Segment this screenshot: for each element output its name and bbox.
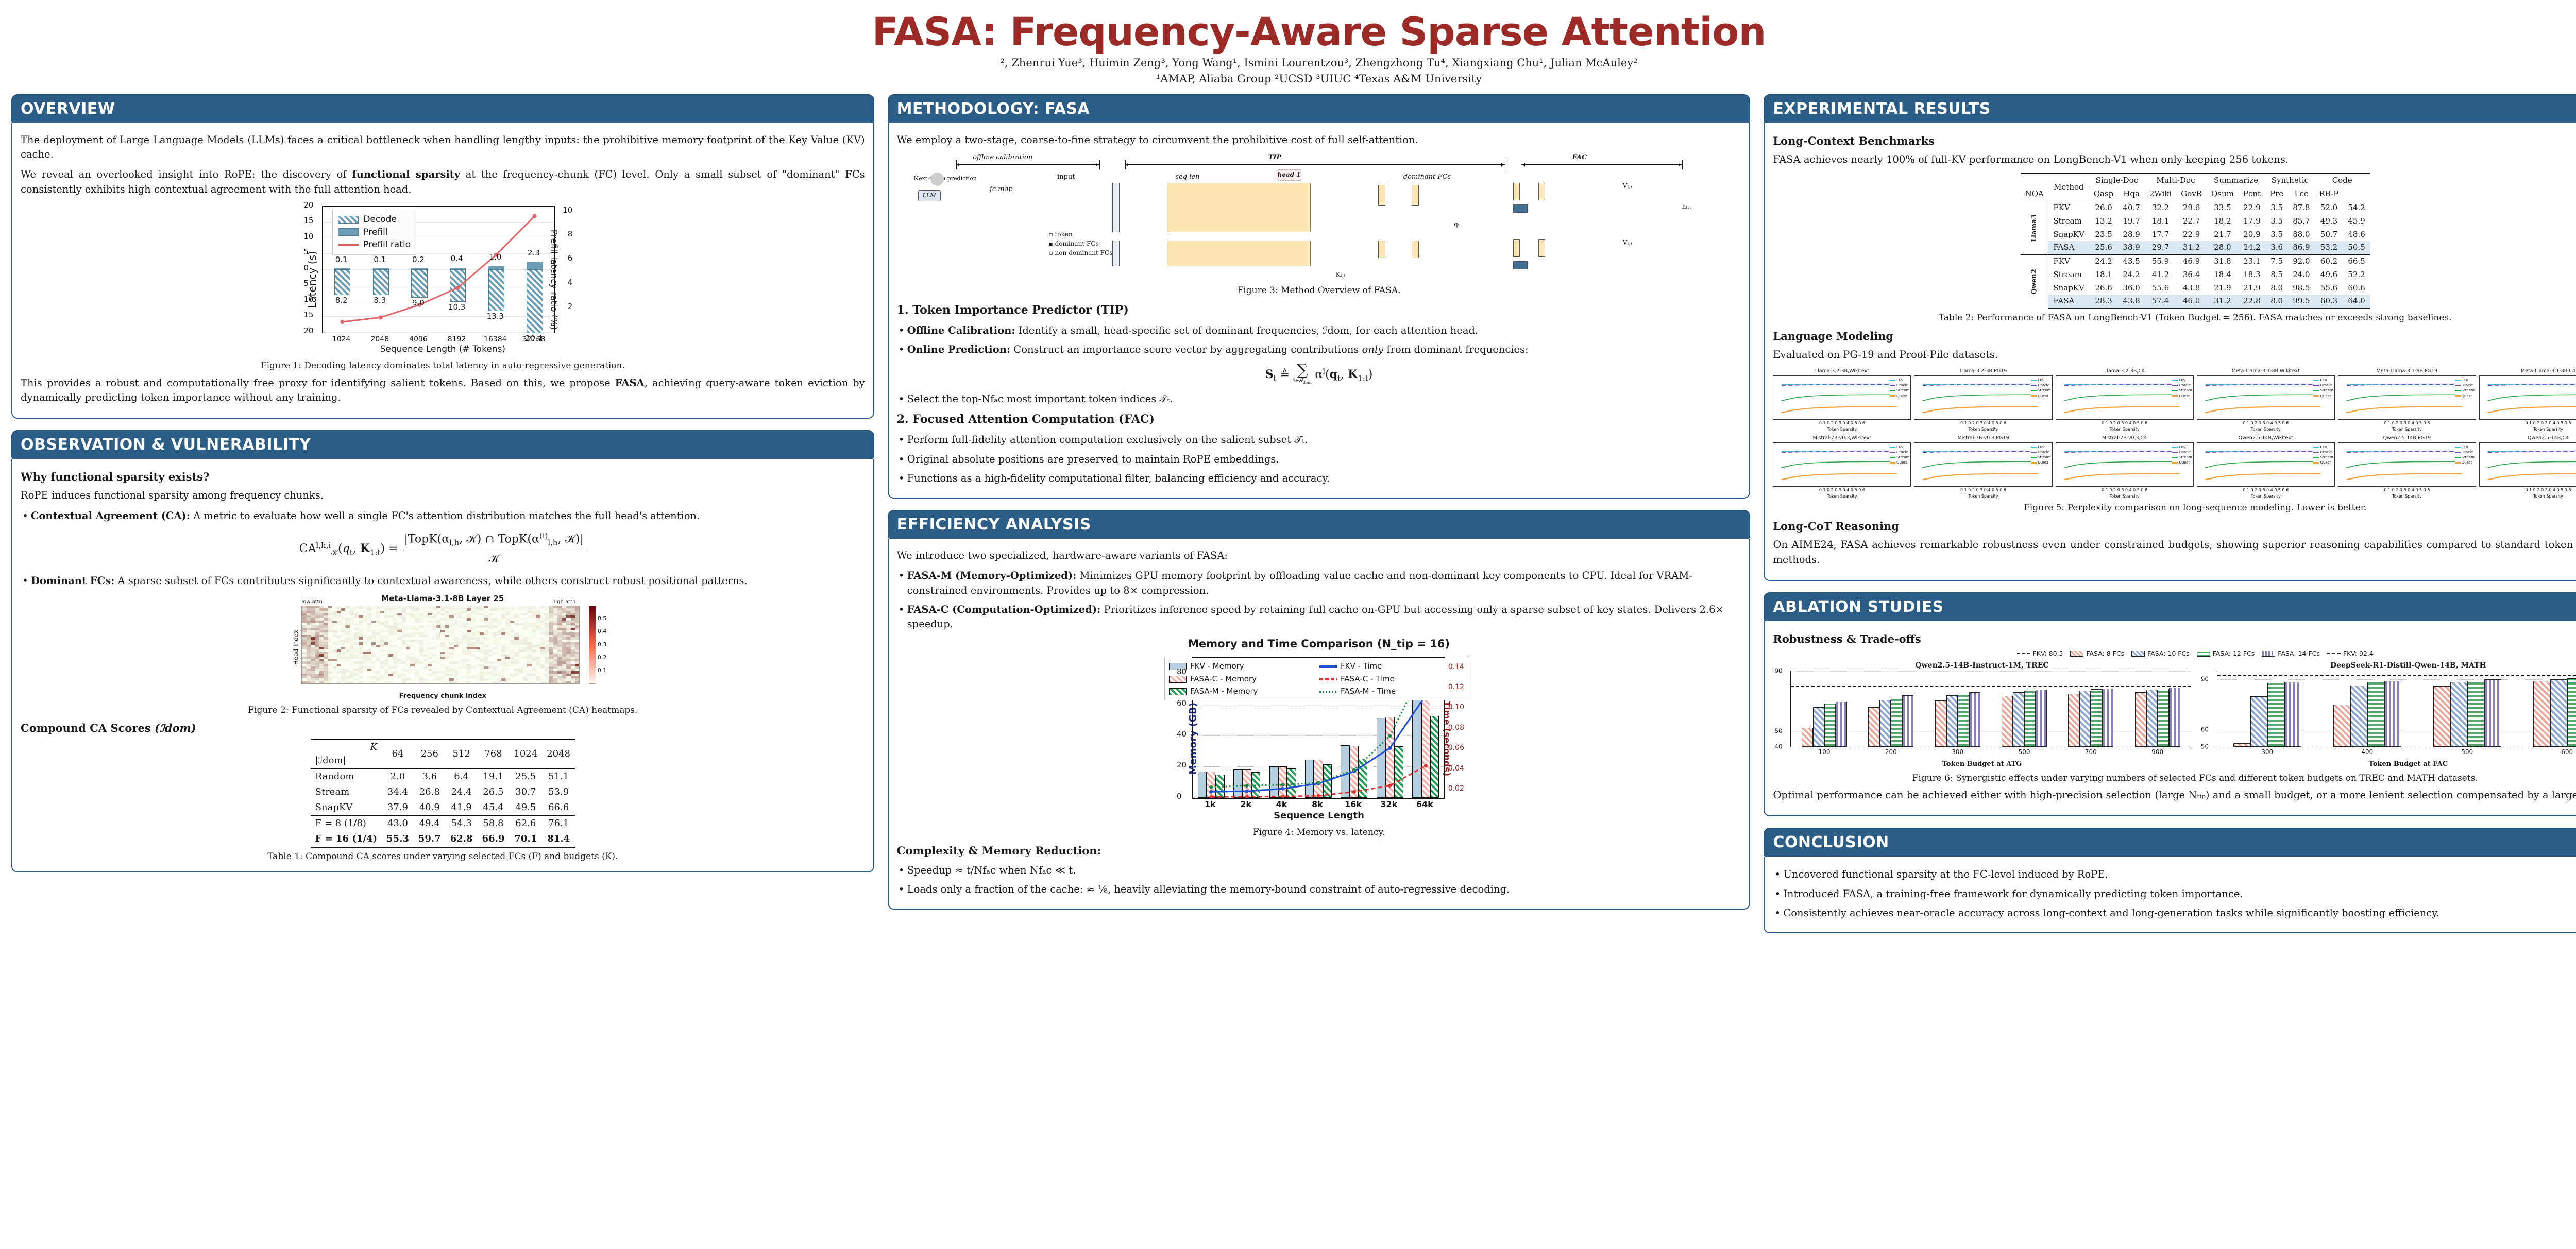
- figure5-legend-item: Stream: [1890, 388, 1909, 393]
- ov-p3-bold: FASA: [615, 377, 645, 389]
- fig1-ytick: 5: [303, 278, 309, 289]
- fig1-ytick: 20: [303, 200, 313, 211]
- figure5-legend: FKVOracleStreamQuest: [2172, 378, 2192, 399]
- fig1-decode-value: 10.3: [448, 302, 465, 313]
- fig6-xtick: 600: [2561, 748, 2573, 757]
- fig1-decode-value: 8.3: [374, 295, 386, 306]
- heatmap-cell: [505, 681, 510, 683]
- figure5-plot: FKVOracleStreamQuest: [1914, 442, 2052, 487]
- fig3-hlt: hₗ,ₜ: [1682, 202, 1691, 211]
- table1-row: F = 16 (1/4)55.359.762.866.970.181.4: [311, 831, 575, 847]
- heatmap-cell: [536, 681, 540, 683]
- heatmap-cell: [514, 681, 518, 683]
- fig4-xtick: 2k: [1240, 798, 1251, 810]
- prefill-swatch: [338, 228, 359, 236]
- efficiency-bullets: FASA-M (Memory-Optimized): Minimizes GPU…: [897, 569, 1741, 631]
- figure5-series-line: [2347, 461, 2462, 468]
- fig3-fac-k-3: [1513, 239, 1520, 257]
- table2-group-header: Code: [2315, 174, 2370, 187]
- fig6-xtick: 900: [2151, 748, 2163, 757]
- heatmap-cell: [350, 681, 354, 683]
- figure5-series-line: [1923, 407, 2038, 413]
- fig4-xtick: 1k: [1205, 798, 1216, 810]
- figure5-xticks: 0.1 0.2 0.3 0.4 0.5 0.6: [1773, 420, 1911, 426]
- fig6-bar: [2024, 691, 2036, 747]
- heatmap-colorbar-tick: 0.3: [598, 641, 607, 649]
- section-ablation: ABLATION STUDIES Robustness & Trade-offs…: [1764, 592, 2576, 817]
- figure5-panel-title: Llama-3.2-3B,C4: [2056, 368, 2194, 375]
- table2-group-header: Synthetic: [2265, 174, 2315, 187]
- table1-row: Stream34.426.824.426.530.753.9: [311, 784, 575, 800]
- fig1-prefill-value: 0.1: [374, 254, 386, 266]
- conclusion-bullet-2: Introduced FASA, a training-free framewo…: [1773, 887, 2576, 901]
- heatmap-cell: [458, 681, 462, 683]
- fig1-decode-value: 9.0: [412, 298, 425, 309]
- methodology-body: We employ a two-stage, coarse-to-fine st…: [888, 123, 1751, 499]
- figure-6-right: DeepSeek-R1-Distill-Qwen-14B, MATH 50609…: [2199, 660, 2576, 769]
- heatmap-cell: [454, 681, 458, 683]
- overview-paragraph-2: We reveal an overlooked insight into RoP…: [21, 167, 865, 197]
- heatmap-cell: [571, 681, 575, 683]
- observation-question: Why functional sparsity exists?: [21, 469, 865, 485]
- fasac-time-swatch: [1319, 678, 1337, 680]
- figure5-legend-item: Oracle: [2313, 383, 2333, 388]
- fig6-gridline: [1791, 671, 2191, 672]
- fig1-ytick-right: 4: [568, 277, 573, 288]
- tip-bullets: Offline Calibration: Identify a small, h…: [897, 323, 1741, 357]
- figure5-series-line: [2206, 395, 2321, 401]
- figure5-legend: FKVOracleStreamQuest: [2031, 378, 2050, 399]
- figure5-series-line: [2206, 385, 2321, 386]
- fig1-ytick: 20: [303, 326, 313, 337]
- figure-1-caption: Figure 1: Decoding latency dominates tot…: [21, 360, 865, 372]
- fig4-xtick: 8k: [1312, 798, 1323, 810]
- tip-section-title: 1. Token Importance Predictor (TIP): [897, 302, 1741, 319]
- figure5-panel-title: Mistral-7B-v0.3,Wikitext: [1773, 435, 1911, 442]
- table2-row: Stream18.124.241.236.418.418.38.524.049.…: [2021, 268, 2370, 282]
- fig3-input-col-bottom: [1112, 241, 1120, 266]
- figure5-panel-title: Qwen2.5-14B,C4: [2479, 435, 2576, 442]
- language-modeling-heading: Language Modeling: [1773, 329, 2576, 344]
- fig1-ytick: 15: [303, 215, 313, 227]
- figure-2-caption: Figure 2: Functional sparsity of FCs rev…: [21, 704, 865, 717]
- fig1-legend-prefill: Prefill: [338, 226, 411, 239]
- figure5-legend: FKVOracleStreamQuest: [1890, 378, 1909, 399]
- fig3-domfc-b: [1412, 185, 1419, 206]
- figure5-legend-item: FKV: [1890, 378, 1909, 383]
- fig3-tick-4: [1505, 160, 1505, 169]
- figure5-panel-title: Llama-3.2-3B,PG19: [1914, 368, 2052, 375]
- table2-col-header: Hqa: [2118, 187, 2144, 201]
- heatmap-cell: [471, 681, 475, 683]
- heatmap-cell: [436, 681, 440, 683]
- figure5-series-line: [1782, 474, 1897, 480]
- table2-col-header: Qasp: [2089, 187, 2119, 201]
- table2-group-header: Single-Doc: [2089, 174, 2145, 187]
- fig6-bar: [2102, 689, 2113, 747]
- fig6-gridline: [1791, 747, 2191, 747]
- experimental-heading: EXPERIMENTAL RESULTS: [1764, 94, 2576, 123]
- heatmap-cell: [363, 681, 367, 683]
- figure5-series-line: [2488, 407, 2576, 413]
- fig6-bar: [2079, 691, 2091, 747]
- fig1-ytick-right: 8: [568, 229, 573, 241]
- heatmap-cell: [523, 681, 527, 683]
- heatmap-cell: [354, 681, 358, 683]
- fig4-ytick: 80: [1177, 666, 1187, 678]
- ov-p2-bold: functional sparsity: [352, 168, 460, 180]
- fig6-bar: [2550, 679, 2567, 747]
- fig6-xtick: 300: [1952, 748, 1963, 757]
- figure5-legend-item: Oracle: [2313, 450, 2333, 455]
- table-1-compound-ca: K |ℐdom|6425651276810242048Random2.03.66…: [311, 739, 575, 848]
- figure5-series-line: [2064, 395, 2180, 401]
- fig1-ytick: 5: [303, 247, 309, 258]
- figure5-panel: Llama-3.2-3B,WikitextFKVOracleStreamQues…: [1773, 368, 1911, 432]
- table2-col-header: RB-P: [2315, 187, 2344, 201]
- figure5-xticks: 0.1 0.2 0.3 0.4 0.5 0.6: [2479, 487, 2576, 493]
- fig3-klt: Kₗ,ₜ: [1336, 270, 1346, 279]
- methodology-heading: METHODOLOGY: FASA: [888, 94, 1751, 123]
- fig6-bar: [2267, 683, 2284, 747]
- heatmap-cell: [532, 681, 536, 683]
- figure5-legend-item: Quest: [2455, 460, 2475, 465]
- heatmap-cell: [428, 681, 432, 683]
- observation-bullets-2: Dominant FCs: A sparse subset of FCs con…: [21, 574, 865, 588]
- figure5-legend-item: Stream: [2455, 388, 2475, 393]
- fig6-bar: [2333, 705, 2350, 747]
- figure5-panel: Qwen2.5-14B,PG19FKVOracleStreamQuest0.1 …: [2338, 435, 2476, 499]
- fig6-bar: [2146, 690, 2158, 746]
- fig4-ytick-right: 0.06: [1448, 743, 1464, 753]
- figure5-xlabel: Token Sparsity: [2479, 426, 2576, 433]
- fig1-ytick-right: 10: [563, 205, 572, 216]
- fig6-xtick: 100: [1819, 748, 1831, 757]
- conclusion-bullets: Uncovered functional sparsity at the FC-…: [1773, 867, 2576, 920]
- figure5-series-line: [2064, 474, 2180, 480]
- heatmap-cell: [540, 681, 545, 683]
- fig1-decode-value: 8.2: [335, 295, 348, 306]
- figure5-panel-title: Meta-Llama-3.1-8B,PG19: [2338, 368, 2476, 375]
- long-cot-text: On AIME24, FASA achieves remarkable robu…: [1773, 538, 2576, 567]
- heatmap-colorbar-tick: 0.2: [598, 654, 607, 662]
- fig1-xtick: 32768: [522, 334, 546, 345]
- fig6-bar: [2169, 688, 2180, 747]
- figure5-plot: FKVOracleStreamQuest: [2479, 442, 2576, 487]
- figure5-xticks: 0.1 0.2 0.3 0.4 0.5 0.6: [2056, 487, 2194, 493]
- fig6-bar: [2484, 679, 2501, 747]
- table2-col-header: Pcnt: [2239, 187, 2265, 201]
- figure5-legend-item: FKV: [2455, 378, 2475, 383]
- heatmap-cell: [388, 681, 393, 683]
- section-experimental: EXPERIMENTAL RESULTS Long-Context Benchm…: [1764, 94, 2576, 581]
- figure5-series-line: [1782, 452, 1897, 453]
- figure-6-legend: FKV: 80.5FASA: 8 FCsFASA: 10 FCsFASA: 12…: [1773, 649, 2576, 658]
- figure5-legend-item: Quest: [2455, 393, 2475, 399]
- figure5-plot: FKVOracleStreamQuest: [2197, 375, 2335, 420]
- authors-line: ², Zhenrui Yue³, Huimin Zeng³, Yong Wang…: [0, 57, 2576, 69]
- table2-method-header: Method: [2048, 174, 2089, 201]
- heatmap-cell: [423, 681, 428, 683]
- figure5-legend: FKVOracleStreamQuest: [2172, 444, 2192, 466]
- bullet-offline-calibration: Offline Calibration: Identify a small, h…: [897, 323, 1741, 338]
- fig4-ytick-right: 0.08: [1448, 723, 1464, 733]
- complexity-heading: Complexity & Memory Reduction:: [897, 843, 1741, 859]
- long-context-heading: Long-Context Benchmarks: [1773, 133, 2576, 149]
- fig3-tick-3: [1125, 160, 1125, 169]
- heatmap-cell: [384, 681, 388, 683]
- fig3-tick-5: [1682, 160, 1683, 169]
- figure5-legend-item: Quest: [2031, 460, 2050, 465]
- section-overview: OVERVIEW The deployment of Large Languag…: [11, 94, 874, 419]
- figure-2-heatmap: Meta-Llama-3.1-8B Layer 25 low attn high…: [278, 593, 607, 702]
- figure5-series-line: [2347, 385, 2462, 386]
- leg-fkv-time: FKV - Time: [1319, 661, 1465, 672]
- figure5-panel-title: Mistral-7B-v0.3,C4: [2056, 435, 2194, 442]
- heatmap-cell: [371, 681, 376, 683]
- figure5-xlabel: Token Sparsity: [2197, 426, 2335, 433]
- heatmap-cell: [510, 681, 514, 683]
- heatmap-cell: [359, 681, 363, 683]
- heatmap-cell: [497, 681, 501, 683]
- fig3-domfc-d: [1412, 241, 1419, 258]
- tip-bullets-2: Select the top-Nfₐc most important token…: [897, 392, 1741, 406]
- figure5-xticks: 0.1 0.2 0.3 0.4 0.5 0.6: [1914, 487, 2052, 493]
- bullet-contextual-agreement: Contextual Agreement (CA): A metric to e…: [21, 509, 865, 523]
- heatmap-cell: [380, 681, 384, 683]
- figure5-series-line: [2206, 474, 2321, 480]
- figure5-legend-item: Quest: [2313, 393, 2333, 399]
- heatmap-cell: [345, 681, 349, 683]
- table-2-caption: Table 2: Performance of FASA on LongBenc…: [1773, 312, 2576, 324]
- heatmap-cell: [307, 681, 311, 683]
- fig1-legend-ratio: Prefill ratio: [338, 238, 411, 251]
- fig6-bar: [1836, 702, 1847, 747]
- heatmap-cell: [415, 681, 419, 683]
- fig1-prefill-value: 0.4: [451, 253, 463, 265]
- fig3-fac-agg-bottom: [1513, 261, 1528, 269]
- heatmap-cell: [341, 681, 345, 683]
- figure-4-title: Memory and Time Comparison (N_tip = 16): [897, 636, 1741, 652]
- fig1-ytick: 15: [303, 310, 313, 321]
- fig4-ytick: 0: [1177, 791, 1182, 802]
- bullet-fasa-c: FASA-C (Computation-Optimized): Prioriti…: [897, 603, 1741, 632]
- table1-row: SnapKV37.940.941.945.449.566.6: [311, 800, 575, 816]
- table2-row: Llama3FKV26.040.732.229.633.522.93.587.8…: [2021, 201, 2370, 215]
- bullet-dominant-fcs: Dominant FCs: A sparse subset of FCs con…: [21, 574, 865, 588]
- fig6-bar: [2250, 696, 2267, 747]
- heatmap-cell: [476, 681, 480, 683]
- heatmap-cell: [545, 681, 549, 683]
- affiliations-line: ¹AMAP, Aliaba Group ²UCSD ³UIUC ⁴Texas A…: [0, 73, 2576, 85]
- figure5-legend-item: Oracle: [2031, 450, 2050, 455]
- fig3-fcmap-label: fc map: [990, 185, 1013, 195]
- fig6-ytick: 90: [2201, 675, 2209, 683]
- table2-col-header: GovR: [2176, 187, 2207, 201]
- fig3-seq-matrix-top: [1167, 183, 1311, 232]
- heatmap-cell: [440, 681, 445, 683]
- fig6-bar: [2091, 689, 2102, 747]
- fig6-gridline: [2217, 679, 2576, 680]
- figure5-plot: FKVOracleStreamQuest: [2056, 375, 2194, 420]
- fig3-seq-matrix-bottom: [1167, 241, 1311, 266]
- fig6-bar: [2284, 682, 2301, 747]
- efficiency-body: We introduce two specialized, hardware-a…: [888, 539, 1751, 910]
- table2-col-header: Lcc: [2288, 187, 2314, 201]
- fig6-bar: [2533, 681, 2550, 746]
- figure5-series-line: [2206, 452, 2321, 453]
- figure5-legend-item: FKV: [1890, 444, 1909, 450]
- figure5-series-line: [1923, 385, 2038, 386]
- figure5-panel: Meta-Llama-3.1-8B,C4FKVOracleStreamQuest…: [2479, 368, 2576, 432]
- figure5-legend-item: Oracle: [2172, 450, 2192, 455]
- figure-3-diagram: offline calibration TIP FAC Next-token p…: [897, 153, 1741, 282]
- bullet-online-prediction: Online Prediction: Construct an importan…: [897, 343, 1741, 357]
- fig3-tip-arrow: [1125, 164, 1504, 165]
- figure5-legend-item: FKV: [2031, 444, 2050, 450]
- fig4-xtick: 4k: [1276, 798, 1287, 810]
- fig6-bar: [2467, 681, 2484, 746]
- figure-4-caption: Figure 4: Memory vs. latency.: [897, 826, 1741, 839]
- fig6-xtick: 500: [2019, 748, 2030, 757]
- fig3-next-token-label: Next-token prediction: [913, 175, 976, 183]
- fig6-bar: [2068, 694, 2079, 747]
- figure-4-chart: Memory (GB) Time (seconds) Sequence Leng…: [1154, 654, 1484, 824]
- figure5-series-line: [2347, 474, 2462, 480]
- figure5-plot: FKVOracleStreamQuest: [1773, 442, 1911, 487]
- fasam-mem-swatch: [1169, 688, 1187, 695]
- fig1-prefill-value: 1.0: [489, 252, 501, 263]
- fig6-baseline: [2217, 675, 2576, 676]
- figure5-legend-item: FKV: [2172, 378, 2192, 383]
- heatmap-cell: [549, 681, 553, 683]
- figure5-series-line: [2488, 452, 2576, 453]
- fig3-seqlen-label: seq len: [1175, 173, 1199, 182]
- heatmap-cell: [410, 681, 414, 683]
- fig6-bar: [2350, 686, 2367, 747]
- fig6-left-xlabel: Token Budget at ATG: [1773, 760, 2191, 769]
- figure5-xlabel: Token Sparsity: [2197, 493, 2335, 500]
- heatmap-colorbar-tick: 0.1: [598, 666, 607, 675]
- fig4-legend: FKV - Memory FKV - Time FASA-C - Memory …: [1164, 658, 1469, 700]
- figure5-xticks: 0.1 0.2 0.3 0.4 0.5 0.6: [2338, 420, 2476, 426]
- table1-row: F = 8 (1/8)43.049.454.358.862.676.1: [311, 816, 575, 832]
- figure5-xlabel: Token Sparsity: [1914, 493, 2052, 500]
- figure5-xlabel: Token Sparsity: [2338, 493, 2476, 500]
- figure6-legend-item: FKV: 92.4: [2327, 649, 2374, 658]
- figure5-panel-title: Qwen2.5-14B,Wikitext: [2197, 435, 2335, 442]
- heatmap-cell: [432, 681, 436, 683]
- fac-bullets: Perform full-fidelity attention computat…: [897, 433, 1741, 486]
- ablation-body: Robustness & Trade-offs FKV: 80.5FASA: 8…: [1764, 621, 2576, 817]
- heatmap-cell: [562, 681, 566, 683]
- table-2-longbench: MethodSingle-DocMulti-DocSummarizeSynthe…: [2021, 173, 2370, 310]
- figure5-plot: FKVOracleStreamQuest: [2338, 375, 2476, 420]
- heatmap-cell: [311, 681, 315, 683]
- figure5-legend-item: FKV: [2031, 378, 2050, 383]
- fig1-prefill-value: 0.1: [335, 254, 348, 266]
- fig3-tick-2: [1099, 160, 1100, 169]
- fig6-bar: [2002, 696, 2013, 746]
- fig6-ytick: 50: [2201, 742, 2209, 751]
- fig3-domfc-c: [1378, 241, 1385, 258]
- bullet-cache-fraction: Loads only a fraction of the cache: ≈ ¹⁄…: [897, 882, 1741, 897]
- heatmap-cell: [449, 681, 453, 683]
- fig6-bar: [1958, 693, 1969, 746]
- heatmap-cell: [328, 681, 332, 683]
- fig3-fac-label: FAC: [1572, 153, 1587, 163]
- heatmap-cell: [493, 681, 497, 683]
- page-title: FASA: Frequency-Aware Sparse Attention: [0, 0, 2576, 53]
- figure5-panel: Llama-3.2-3B,C4FKVOracleStreamQuest0.1 0…: [2056, 368, 2194, 432]
- table1-col-header: 1024: [509, 739, 542, 769]
- fig3-offline-arrow: [956, 164, 1099, 165]
- ratio-swatch: [338, 244, 359, 246]
- fig3-vlt-bottom: Vₗ,ₜ: [1623, 238, 1632, 247]
- fig3-tick-1: [956, 160, 956, 169]
- heatmap-cell: [467, 681, 471, 683]
- leg-fasac-mem: FASA-C - Memory: [1169, 674, 1314, 685]
- figure5-panel: Mistral-7B-v0.3,WikitextFKVOracleStreamQ…: [1773, 435, 1911, 499]
- fig4-ytick-right: 0.02: [1448, 783, 1464, 794]
- fig1-prefill-value: 0.2: [412, 254, 425, 266]
- table2-model-label: Llama3: [2021, 201, 2048, 255]
- fig6-bar: [1969, 692, 1980, 747]
- fig1-xtick: 4096: [409, 334, 428, 345]
- figure5-legend-item: Stream: [2172, 455, 2192, 460]
- figure5-xlabel: Token Sparsity: [1773, 426, 1911, 433]
- fig3-offline-label: offline calibration: [973, 153, 1032, 163]
- figure5-legend-item: Stream: [2313, 388, 2333, 393]
- figure-5-caption: Figure 5: Perplexity comparison on long-…: [1773, 502, 2576, 515]
- figure5-xlabel: Token Sparsity: [1914, 426, 2052, 433]
- figure5-xticks: 0.1 0.2 0.3 0.4 0.5 0.6: [2338, 487, 2476, 493]
- figure5-legend-item: Stream: [2031, 388, 2050, 393]
- figure5-series-line: [2064, 407, 2180, 413]
- fig2-grid: [301, 606, 580, 684]
- figure5-series-line: [1923, 461, 2038, 468]
- figure5-legend-item: Stream: [1890, 455, 1909, 460]
- figure-1-chart: Latency (s) Prefill latency ratio (%) Se…: [283, 202, 602, 357]
- bullet-fasa-m: FASA-M (Memory-Optimized): Minimizes GPU…: [897, 569, 1741, 598]
- heatmap-cell: [480, 681, 484, 683]
- figure-6-charts: Qwen2.5-14B-Instruct-1M, TREC 4050901002…: [1773, 660, 2576, 769]
- heatmap-cell: [319, 681, 324, 683]
- fig6-xtick: 200: [1885, 748, 1897, 757]
- fig3-domfc-a: [1378, 185, 1385, 206]
- figure5-legend-item: Quest: [2031, 393, 2050, 399]
- figure5-series-line: [2347, 395, 2462, 401]
- heatmap-cell: [501, 681, 505, 683]
- figure5-legend-item: Oracle: [2172, 383, 2192, 388]
- fig6-bar: [1935, 700, 1946, 747]
- fig2-low-label: low attn: [301, 598, 323, 606]
- figure5-legend-item: Oracle: [1890, 450, 1909, 455]
- figure5-panel-title: Qwen2.5-14B,PG19: [2338, 435, 2476, 442]
- table2-row: Stream13.219.718.122.718.217.93.585.749.…: [2021, 215, 2370, 228]
- fig6-baseline: [1791, 686, 2191, 687]
- fig3-head1-badge: head 1: [1277, 169, 1301, 181]
- section-methodology: METHODOLOGY: FASA We employ a two-stage,…: [888, 94, 1751, 499]
- fig1-legend: Decode Prefill Prefill ratio: [332, 210, 416, 255]
- section-efficiency: EFFICIENCY ANALYSIS We introduce two spe…: [888, 510, 1751, 910]
- figure5-series-line: [2064, 385, 2180, 386]
- figure5-panel: Qwen2.5-14B,C4FKVOracleStreamQuest0.1 0.…: [2479, 435, 2576, 499]
- fig6-ytick: 50: [1774, 727, 1782, 736]
- figure6-legend-item: FKV: 80.5: [2017, 649, 2063, 658]
- fig4-xtick: 64k: [1416, 798, 1433, 810]
- heatmap-cell: [445, 681, 449, 683]
